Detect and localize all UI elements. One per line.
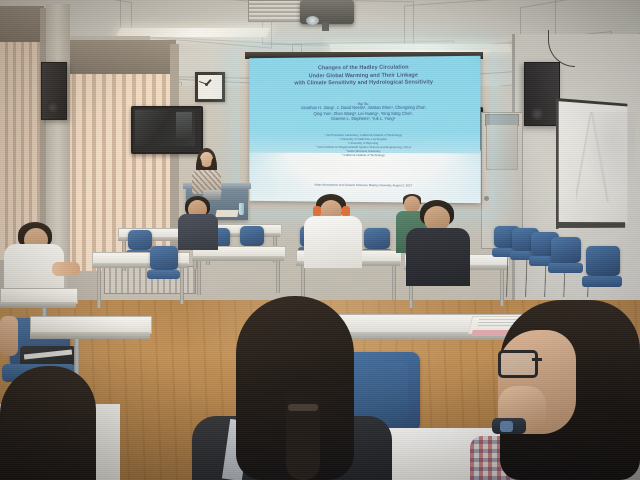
- audience-navy-shirt: [406, 228, 470, 286]
- classroom-photo: Changes of the Hadley Circulation Under …: [0, 0, 640, 480]
- slide-wave-graphic: [249, 153, 480, 204]
- projector-mount: [322, 22, 329, 31]
- projector-lens-icon: [306, 16, 319, 25]
- slide-affiliations: ¹ Jet Propulsion Laboratory, California …: [259, 133, 470, 158]
- desk-side: [0, 302, 76, 308]
- author-line-3: Graeme L. Stephens¹, Yuk L. Yung⁶: [255, 116, 474, 122]
- affiliation-line-6: ⁶ California Institute of Technology: [259, 153, 470, 158]
- door-panel: [486, 124, 518, 170]
- ceiling-vent: [248, 0, 306, 22]
- presentation-slide: Changes of the Hadley Circulation Under …: [249, 56, 480, 203]
- water-bottle: [239, 203, 244, 215]
- empty-chair: [240, 226, 264, 246]
- ceiling-light-right: [329, 44, 511, 52]
- clock-center-icon: [205, 83, 208, 86]
- podium-papers: [215, 210, 238, 217]
- door-handle-icon[interactable]: [484, 196, 489, 201]
- speaker-cone-icon: [531, 108, 544, 120]
- speaker-cone-icon: [47, 102, 58, 113]
- slide-title-line-3: with Climate Sensitivity and Hydrologica…: [257, 79, 472, 88]
- curtain-valance-left: [0, 6, 44, 42]
- desk-leg: [97, 268, 101, 308]
- chair-seat: [147, 270, 180, 279]
- empty-chair: [364, 228, 390, 249]
- eyeglasses-icon: [498, 350, 538, 378]
- wall-clock: [195, 72, 225, 102]
- desk-leg: [392, 266, 396, 300]
- desk-leg: [180, 268, 184, 304]
- foreground-left-person: [0, 366, 96, 480]
- projection-screen: Changes of the Hadley Circulation Under …: [249, 56, 480, 203]
- audience-far-left-arm: [0, 316, 18, 356]
- chair-seat: [548, 263, 583, 273]
- empty-chair: [128, 230, 152, 250]
- eyeglasses-bridge: [532, 358, 542, 361]
- monitor-glare: [176, 112, 192, 138]
- empty-chair: [551, 237, 581, 263]
- slide-title: Changes of the Hadley Circulation Under …: [257, 64, 472, 88]
- slide-author-list: Jonathan H. Jiang¹, J. David Neelin², Ji…: [255, 105, 474, 122]
- empty-chair: [150, 246, 178, 270]
- desk-side: [30, 332, 150, 339]
- desk-leg: [276, 261, 280, 293]
- whiteboard-residual-writing: [576, 112, 636, 202]
- desk-leg: [197, 261, 201, 295]
- hair-tie: [288, 404, 318, 411]
- whiteboard-marker-tray: [556, 222, 625, 228]
- ponytail: [286, 376, 320, 480]
- empty-chair: [586, 246, 620, 276]
- chair-seat: [582, 276, 622, 287]
- audience-white-shirt-headphones: [304, 216, 362, 268]
- curtain-valance: [62, 40, 176, 74]
- desk-side: [192, 256, 284, 261]
- audience-front-podium: [178, 214, 218, 250]
- audience-left-arm: [52, 262, 80, 276]
- watch-face: [500, 421, 513, 432]
